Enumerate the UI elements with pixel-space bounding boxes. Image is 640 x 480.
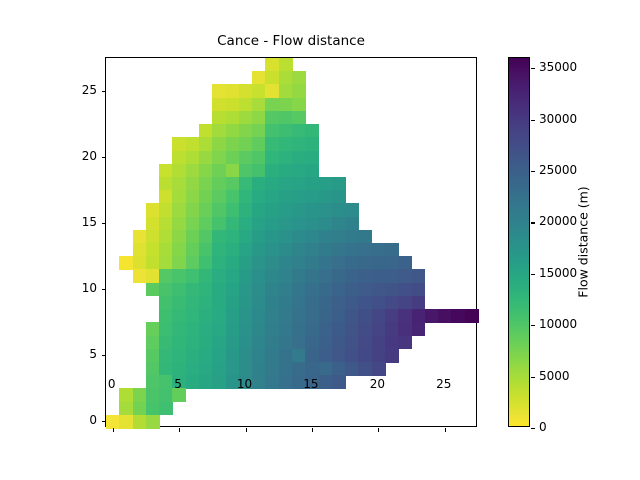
raster-cell xyxy=(265,336,279,350)
raster-cell xyxy=(345,349,359,363)
raster-cell xyxy=(146,203,160,217)
raster-cell xyxy=(212,98,226,112)
raster-cell xyxy=(279,124,293,138)
raster-cell xyxy=(133,269,147,283)
raster-cell xyxy=(385,243,399,257)
raster-cell xyxy=(265,362,279,376)
raster-cell xyxy=(265,269,279,283)
raster-cell xyxy=(252,151,266,165)
colorbar-axis-label: Flow distance (m) xyxy=(576,186,591,297)
raster-cell xyxy=(212,151,226,165)
x-tick xyxy=(246,428,247,432)
raster-cell xyxy=(292,269,306,283)
raster-cell xyxy=(239,349,253,363)
raster-cell xyxy=(226,177,240,191)
raster-cell xyxy=(172,283,186,297)
raster-cell xyxy=(345,243,359,257)
raster-cell xyxy=(119,402,133,416)
raster-cell xyxy=(199,124,213,138)
y-tick xyxy=(102,223,106,224)
colorbar-ticklabel: 0 xyxy=(539,420,547,434)
raster-cell xyxy=(305,309,319,323)
raster-cell xyxy=(412,296,426,310)
raster-cell xyxy=(279,151,293,165)
colorbar-tick xyxy=(531,68,535,69)
raster-cell xyxy=(292,217,306,231)
raster-cell xyxy=(305,243,319,257)
raster-cell xyxy=(265,230,279,244)
raster-cell xyxy=(385,349,399,363)
x-tick xyxy=(312,428,313,432)
raster-cell xyxy=(292,349,306,363)
colorbar xyxy=(508,57,530,427)
raster-cell xyxy=(146,402,160,416)
raster-cell xyxy=(226,98,240,112)
raster-cell xyxy=(385,283,399,297)
raster-cell xyxy=(319,243,333,257)
raster-cell xyxy=(319,177,333,191)
colorbar-tick xyxy=(531,428,535,429)
raster-cell xyxy=(212,322,226,336)
raster-cell xyxy=(332,190,346,204)
raster-cell xyxy=(226,230,240,244)
raster-cell xyxy=(172,322,186,336)
raster-cell xyxy=(332,217,346,231)
raster-cell xyxy=(199,375,213,389)
colorbar-tick xyxy=(531,171,535,172)
raster-cell xyxy=(305,124,319,138)
raster-cell xyxy=(239,336,253,350)
raster-cell xyxy=(159,375,173,389)
raster-cell xyxy=(358,243,372,257)
raster-cell xyxy=(186,177,200,191)
raster-cell xyxy=(199,283,213,297)
raster-cell xyxy=(133,388,147,402)
raster-cell xyxy=(159,217,173,231)
raster-cell xyxy=(252,322,266,336)
y-tick xyxy=(102,355,106,356)
raster-cell xyxy=(252,296,266,310)
raster-cell xyxy=(226,137,240,151)
y-ticklabel: 0 xyxy=(89,413,97,427)
raster-cell xyxy=(186,256,200,270)
raster-cell xyxy=(159,388,173,402)
raster-cell xyxy=(372,256,386,270)
raster-cell xyxy=(345,336,359,350)
raster-cell xyxy=(146,375,160,389)
raster-cell xyxy=(199,243,213,257)
raster-cell xyxy=(252,98,266,112)
raster-cell xyxy=(186,349,200,363)
raster-cell xyxy=(279,190,293,204)
raster-cell xyxy=(159,190,173,204)
raster-cell xyxy=(319,322,333,336)
raster-cell xyxy=(265,256,279,270)
raster-cell xyxy=(345,230,359,244)
raster-cell xyxy=(319,190,333,204)
raster-cell xyxy=(212,296,226,310)
raster-cell xyxy=(358,349,372,363)
raster-cell xyxy=(305,296,319,310)
raster-cell xyxy=(292,111,306,125)
x-tick xyxy=(445,428,446,432)
raster-cell xyxy=(186,269,200,283)
raster-cell xyxy=(305,151,319,165)
raster-cell xyxy=(172,230,186,244)
raster-cell xyxy=(358,230,372,244)
raster-cell xyxy=(412,309,426,323)
raster-cell xyxy=(279,349,293,363)
raster-cell xyxy=(279,84,293,98)
raster-cell xyxy=(239,362,253,376)
raster-cell xyxy=(345,362,359,376)
colorbar-ticklabel: 20000 xyxy=(539,214,577,228)
raster-cell xyxy=(398,256,412,270)
raster-cell xyxy=(332,203,346,217)
raster-cell xyxy=(358,322,372,336)
raster-cell xyxy=(345,203,359,217)
raster-cell xyxy=(239,309,253,323)
raster-cell xyxy=(186,309,200,323)
raster-cell xyxy=(372,283,386,297)
raster-cell xyxy=(239,283,253,297)
raster-cell xyxy=(133,230,147,244)
raster-cell xyxy=(372,296,386,310)
raster-cell xyxy=(199,190,213,204)
raster-cell xyxy=(226,336,240,350)
raster-cell xyxy=(358,256,372,270)
x-ticklabel: 25 xyxy=(436,377,451,391)
raster-cell xyxy=(212,283,226,297)
raster-cell xyxy=(319,256,333,270)
raster-cell xyxy=(133,402,147,416)
raster-cell xyxy=(332,230,346,244)
raster-cell xyxy=(345,309,359,323)
colorbar-ticklabel: 25000 xyxy=(539,163,577,177)
raster-cell xyxy=(398,322,412,336)
raster-cell xyxy=(385,336,399,350)
raster-cell xyxy=(265,84,279,98)
raster-cell xyxy=(279,322,293,336)
raster-cell xyxy=(159,243,173,257)
colorbar-ticklabel: 5000 xyxy=(539,369,570,383)
raster-cell xyxy=(358,309,372,323)
x-tick xyxy=(113,428,114,432)
raster-cell xyxy=(319,296,333,310)
raster-cell xyxy=(292,98,306,112)
raster-cell xyxy=(172,362,186,376)
raster-cell xyxy=(239,84,253,98)
raster-cell xyxy=(305,362,319,376)
raster-cell xyxy=(252,243,266,257)
raster-cell xyxy=(212,111,226,125)
raster-cell xyxy=(239,256,253,270)
raster-cell xyxy=(279,164,293,178)
raster-cell xyxy=(226,269,240,283)
colorbar-tick xyxy=(531,274,535,275)
raster-cell xyxy=(239,243,253,257)
raster-cell xyxy=(279,71,293,85)
colorbar-ticklabel: 10000 xyxy=(539,317,577,331)
raster-cell xyxy=(199,296,213,310)
raster-cell xyxy=(305,177,319,191)
raster-cell xyxy=(279,296,293,310)
raster-cell xyxy=(412,269,426,283)
raster-cell xyxy=(292,164,306,178)
raster-cell xyxy=(133,256,147,270)
y-ticklabel: 25 xyxy=(82,83,97,97)
raster-cell xyxy=(305,283,319,297)
raster-cell xyxy=(292,151,306,165)
raster-cell xyxy=(159,336,173,350)
raster-cell xyxy=(292,203,306,217)
raster-cell xyxy=(239,230,253,244)
raster-cell xyxy=(226,296,240,310)
raster-cell xyxy=(186,322,200,336)
raster-cell xyxy=(239,296,253,310)
raster-cell xyxy=(358,362,372,376)
raster-cell xyxy=(172,336,186,350)
raster-cell xyxy=(186,190,200,204)
raster-cell xyxy=(398,269,412,283)
raster-cell xyxy=(239,217,253,231)
raster-cell xyxy=(226,349,240,363)
raster-cell xyxy=(279,283,293,297)
raster-cell xyxy=(358,296,372,310)
raster-cell xyxy=(146,269,160,283)
raster-cell xyxy=(199,164,213,178)
raster-cell xyxy=(305,164,319,178)
raster-cell xyxy=(279,177,293,191)
raster-cell xyxy=(292,124,306,138)
raster-cell xyxy=(159,269,173,283)
raster-cell xyxy=(292,190,306,204)
raster-cell xyxy=(172,190,186,204)
raster-cell xyxy=(199,336,213,350)
raster-cell xyxy=(159,402,173,416)
raster-cell xyxy=(292,336,306,350)
raster-cell xyxy=(252,164,266,178)
raster-cell xyxy=(172,177,186,191)
raster-cell xyxy=(159,362,173,376)
colorbar-ticklabel: 15000 xyxy=(539,266,577,280)
raster-cell xyxy=(345,322,359,336)
raster-cell xyxy=(385,269,399,283)
colorbar-tick xyxy=(531,377,535,378)
raster-cell xyxy=(292,84,306,98)
raster-cell xyxy=(292,137,306,151)
raster-cell xyxy=(226,203,240,217)
raster-cell xyxy=(252,111,266,125)
raster-cell xyxy=(212,203,226,217)
raster-cell xyxy=(212,375,226,389)
raster-cell xyxy=(398,296,412,310)
raster-cell xyxy=(146,336,160,350)
raster-cell xyxy=(199,230,213,244)
raster-cell xyxy=(265,164,279,178)
x-tick xyxy=(378,428,379,432)
raster-cell xyxy=(239,151,253,165)
raster-cell xyxy=(226,84,240,98)
raster-cell xyxy=(412,322,426,336)
x-tick xyxy=(179,428,180,432)
x-ticklabel: 5 xyxy=(174,377,182,391)
raster-cell xyxy=(332,256,346,270)
raster-cell xyxy=(212,362,226,376)
raster-cell xyxy=(212,230,226,244)
raster-cell xyxy=(172,309,186,323)
raster-cell xyxy=(146,388,160,402)
raster-cell xyxy=(239,111,253,125)
raster-cell xyxy=(186,230,200,244)
raster-cell xyxy=(345,283,359,297)
flow-distance-raster xyxy=(106,58,476,426)
raster-cell xyxy=(172,243,186,257)
raster-cell xyxy=(438,309,452,323)
raster-cell xyxy=(186,296,200,310)
raster-cell xyxy=(265,177,279,191)
raster-cell xyxy=(332,309,346,323)
raster-cell xyxy=(146,283,160,297)
raster-cell xyxy=(279,336,293,350)
raster-cell xyxy=(252,309,266,323)
raster-cell xyxy=(146,322,160,336)
raster-cell xyxy=(239,137,253,151)
matplotlib-figure: Cance - Flow distance 0510152025 0510152… xyxy=(0,0,640,480)
raster-cell xyxy=(319,269,333,283)
raster-cell xyxy=(159,230,173,244)
raster-cell xyxy=(265,322,279,336)
raster-cell xyxy=(279,309,293,323)
raster-cell xyxy=(279,375,293,389)
raster-cell xyxy=(226,217,240,231)
raster-cell xyxy=(252,375,266,389)
raster-cell xyxy=(252,269,266,283)
raster-cell xyxy=(239,203,253,217)
raster-cell xyxy=(212,336,226,350)
raster-cell xyxy=(199,269,213,283)
raster-cell xyxy=(385,322,399,336)
raster-cell xyxy=(372,309,386,323)
raster-cell xyxy=(279,256,293,270)
colorbar-ticklabel: 35000 xyxy=(539,60,577,74)
raster-cell xyxy=(159,309,173,323)
page-title: Cance - Flow distance xyxy=(105,33,477,49)
raster-cell xyxy=(265,203,279,217)
raster-cell xyxy=(212,190,226,204)
y-ticklabel: 10 xyxy=(82,281,97,295)
raster-cell xyxy=(239,177,253,191)
colorbar-tick xyxy=(531,325,535,326)
raster-cell xyxy=(292,177,306,191)
raster-cell xyxy=(305,349,319,363)
raster-cell xyxy=(172,217,186,231)
raster-cell xyxy=(372,269,386,283)
raster-cell xyxy=(226,256,240,270)
raster-cell xyxy=(239,124,253,138)
raster-cell xyxy=(279,217,293,231)
raster-cell xyxy=(372,322,386,336)
raster-cell xyxy=(133,415,147,429)
raster-cell xyxy=(345,217,359,231)
raster-cell xyxy=(226,243,240,257)
raster-cell xyxy=(265,124,279,138)
y-ticklabel: 15 xyxy=(82,215,97,229)
raster-cell xyxy=(398,283,412,297)
raster-cell xyxy=(212,217,226,231)
raster-cell xyxy=(292,362,306,376)
raster-cell xyxy=(146,415,160,429)
raster-cell xyxy=(119,415,133,429)
raster-cell xyxy=(226,151,240,165)
raster-cell xyxy=(172,203,186,217)
raster-cell xyxy=(305,203,319,217)
raster-cell xyxy=(332,243,346,257)
raster-cell xyxy=(212,349,226,363)
raster-cell xyxy=(226,124,240,138)
raster-cell xyxy=(226,309,240,323)
raster-cell xyxy=(319,336,333,350)
raster-cell xyxy=(319,230,333,244)
x-ticklabel: 15 xyxy=(303,377,318,391)
raster-cell xyxy=(252,230,266,244)
raster-cell xyxy=(372,336,386,350)
raster-cell xyxy=(186,283,200,297)
raster-cell xyxy=(186,336,200,350)
raster-cell xyxy=(465,309,479,323)
raster-cell xyxy=(159,203,173,217)
raster-cell xyxy=(265,349,279,363)
raster-cell xyxy=(372,362,386,376)
raster-cell xyxy=(159,322,173,336)
raster-cell xyxy=(319,362,333,376)
y-tick xyxy=(102,91,106,92)
raster-cell xyxy=(212,124,226,138)
raster-cell xyxy=(332,349,346,363)
raster-cell xyxy=(398,336,412,350)
raster-cell xyxy=(252,124,266,138)
raster-cell xyxy=(265,375,279,389)
raster-cell xyxy=(385,309,399,323)
raster-cell xyxy=(252,84,266,98)
raster-cell xyxy=(119,256,133,270)
raster-cell xyxy=(398,309,412,323)
raster-cell xyxy=(252,71,266,85)
raster-cell xyxy=(332,283,346,297)
raster-cell xyxy=(345,256,359,270)
raster-cell xyxy=(252,256,266,270)
raster-cell xyxy=(199,151,213,165)
x-ticklabel: 0 xyxy=(108,377,116,391)
raster-cell xyxy=(372,349,386,363)
y-tick xyxy=(102,157,106,158)
raster-cell xyxy=(172,151,186,165)
raster-cell xyxy=(279,98,293,112)
raster-cell xyxy=(212,137,226,151)
raster-cell xyxy=(425,309,439,323)
raster-cell xyxy=(186,362,200,376)
colorbar-ticklabel: 30000 xyxy=(539,112,577,126)
raster-cell xyxy=(305,336,319,350)
raster-cell xyxy=(332,322,346,336)
raster-cell xyxy=(186,203,200,217)
raster-cell xyxy=(212,309,226,323)
raster-cell xyxy=(252,336,266,350)
raster-cell xyxy=(239,190,253,204)
raster-cell xyxy=(332,177,346,191)
raster-cell xyxy=(199,256,213,270)
raster-cell xyxy=(159,349,173,363)
